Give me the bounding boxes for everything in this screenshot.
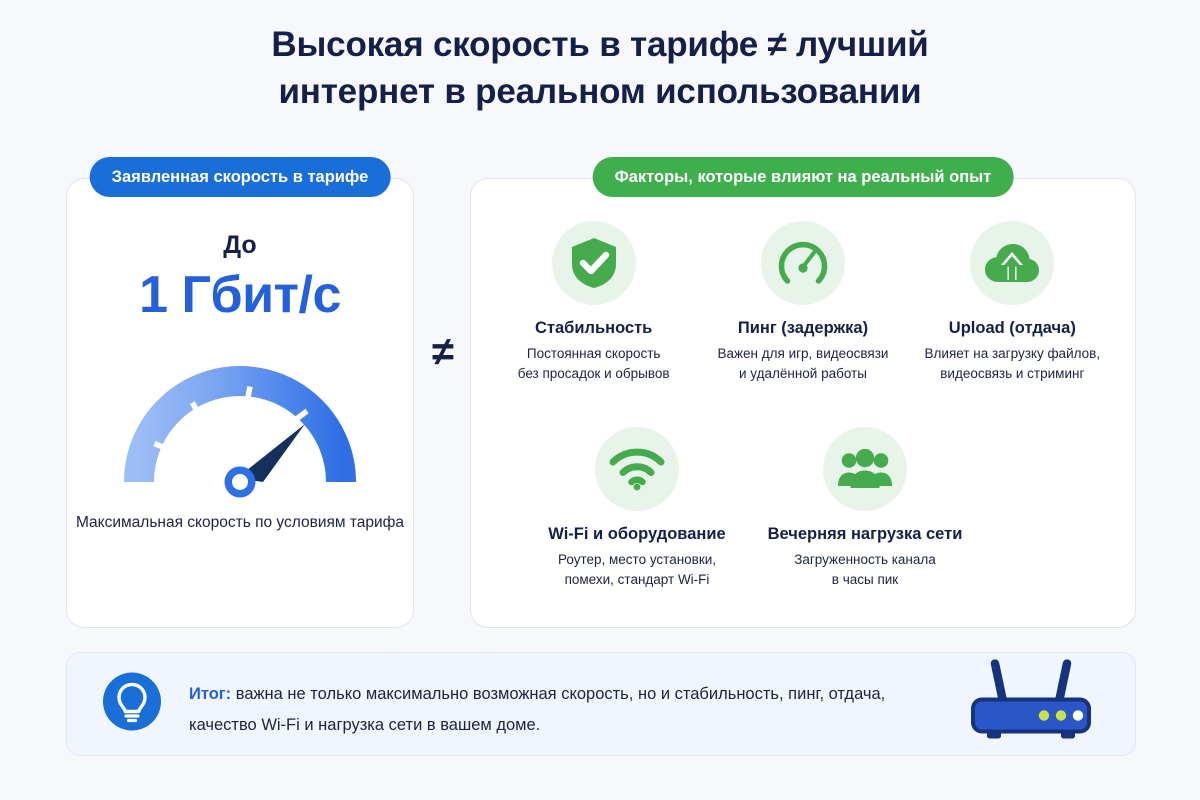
lightbulb-icon — [103, 673, 161, 736]
factor-desc: Загруженность канала в часы пик — [794, 550, 936, 589]
factor-title: Wi-Fi и оборудование — [548, 525, 725, 544]
page-title-line-1: Высокая скорость в тарифе ≠ лучший — [0, 22, 1200, 69]
factor-desc-line-2: и удалённой работы — [718, 364, 889, 384]
factor-ping: Пинг (задержка) Важен для игр, видеосвяз… — [703, 221, 903, 383]
summary-body: важна не только максимально возможная ск… — [189, 685, 885, 734]
factor-stability: Стабильность Постоянная скорость без про… — [494, 221, 694, 383]
real-factors-panel: Факторы, которые влияют на реальный опыт… — [470, 178, 1136, 628]
factor-desc-line-1: Загруженность канала — [794, 550, 936, 570]
factor-desc-line-2: без просадок и обрывов — [518, 364, 670, 384]
factor-desc: Влияет на загрузку файлов, видеосвязь и … — [925, 344, 1101, 383]
summary-text: Итог: важна не только максимально возмож… — [189, 679, 949, 740]
factor-desc-line-2: помехи, стандарт Wi-Fi — [558, 570, 716, 590]
speedometer-icon — [761, 221, 845, 305]
factors-row-top: Стабильность Постоянная скорость без про… — [471, 221, 1135, 383]
declared-speed-panel: Заявленная скорость в тарифе До 1 Гбит/с — [66, 178, 414, 628]
tariff-prefix-label: До — [67, 231, 413, 260]
factor-desc-line-1: Постоянная скорость — [518, 344, 670, 364]
factor-wifi: Wi-Fi и оборудование Роутер, место устан… — [537, 427, 737, 589]
factor-title: Стабильность — [535, 319, 652, 338]
real-factors-badge: Факторы, которые влияют на реальный опыт — [593, 157, 1014, 197]
tariff-speed-value: 1 Гбит/с — [67, 265, 413, 325]
shield-check-icon — [552, 221, 636, 305]
speedometer-gauge-icon — [117, 349, 363, 499]
cloud-upload-icon — [970, 221, 1054, 305]
wifi-router-icon — [965, 660, 1097, 749]
people-group-icon — [823, 427, 907, 511]
factor-title: Upload (отдача) — [949, 319, 1076, 338]
factor-title: Пинг (задержка) — [738, 319, 868, 338]
factor-desc-line-1: Роутер, место установки, — [558, 550, 716, 570]
factor-desc-line-1: Влияет на загрузку файлов, — [925, 344, 1101, 364]
gauge-caption-line-1: Максимальная скорость — [76, 514, 251, 531]
factor-desc-line-2: видеосвязь и стриминг — [925, 364, 1101, 384]
factor-desc: Важен для игр, видеосвязи и удалённой ра… — [718, 344, 889, 383]
declared-speed-badge: Заявленная скорость в тарифе — [90, 157, 391, 197]
factor-upload: Upload (отдача) Влияет на загрузку файло… — [912, 221, 1112, 383]
page-title: Высокая скорость в тарифе ≠ лучший интер… — [0, 22, 1200, 115]
factor-desc-line-1: Важен для игр, видеосвязи — [718, 344, 889, 364]
factor-desc: Постоянная скорость без просадок и обрыв… — [518, 344, 670, 383]
page-title-line-2: интернет в реальном использовании — [0, 69, 1200, 116]
gauge-caption: Максимальная скорость по условиям тарифа — [67, 511, 413, 534]
gauge-caption-line-2: по условиям тарифа — [255, 514, 404, 531]
factor-desc-line-2: в часы пик — [794, 570, 936, 590]
not-equal-icon: ≠ — [420, 332, 466, 372]
summary-bar: Итог: важна не только максимально возмож… — [66, 652, 1136, 756]
factor-evening-load: Вечерняя нагрузка сети Загруженность кан… — [765, 427, 965, 589]
summary-label: Итог: — [189, 685, 231, 703]
factor-title: Вечерняя нагрузка сети — [768, 525, 963, 544]
factor-desc: Роутер, место установки, помехи, стандар… — [558, 550, 716, 589]
factors-row-bottom: Wi-Fi и оборудование Роутер, место устан… — [471, 427, 1135, 589]
wifi-icon — [595, 427, 679, 511]
